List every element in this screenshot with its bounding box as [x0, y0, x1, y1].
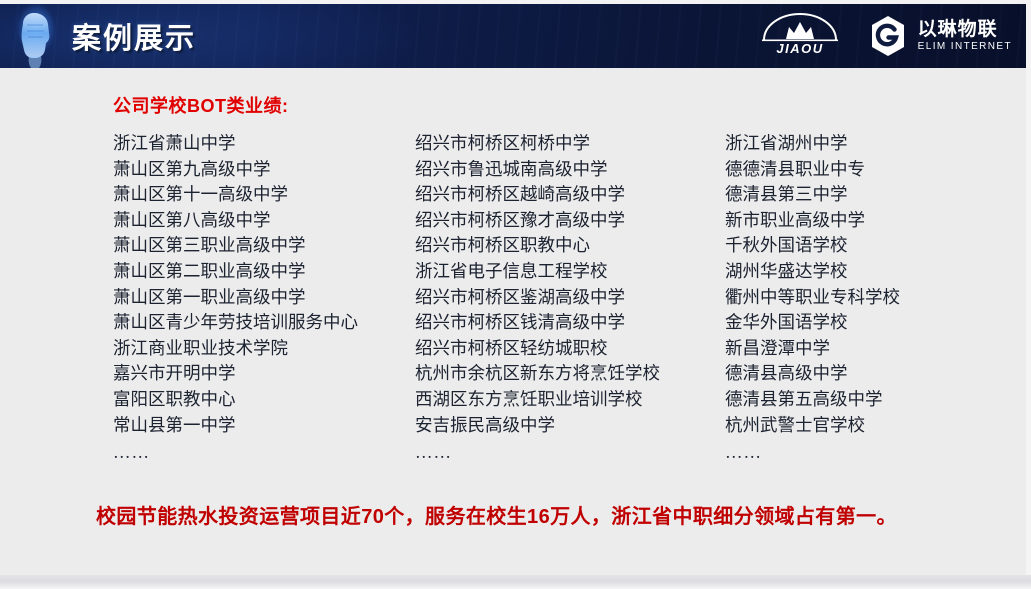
- list-item: 衢州中等职业专科学校: [725, 285, 993, 311]
- elim-wordmark: 以琳物联 ELIM INTERNET: [918, 19, 1012, 53]
- list-item: 富阳区职教中心: [113, 387, 415, 413]
- glowing-fist-icon: [0, 4, 72, 68]
- list-item: 萧山区第三职业高级中学: [113, 233, 415, 259]
- list-item: 浙江商业职业技术学院: [113, 336, 415, 362]
- list-item: 绍兴市柯桥区职教中心: [415, 233, 725, 259]
- elim-g-hexagon-icon: [867, 15, 909, 57]
- slide-right-edge: [1026, 0, 1031, 589]
- list-item: 安吉振民高级中学: [415, 413, 725, 439]
- list-item: 绍兴市柯桥区越崎高级中学: [415, 182, 725, 208]
- school-list-columns: 浙江省萧山中学 萧山区第九高级中学 萧山区第十一高级中学 萧山区第八高级中学 萧…: [113, 131, 993, 466]
- list-item: 绍兴市鲁迅城南高级中学: [415, 157, 725, 183]
- list-item: 萧山区第八高级中学: [113, 208, 415, 234]
- school-column-3: 浙江省湖州中学 德德清县职业中专 德清县第三中学 新市职业高级中学 千秋外国语学…: [725, 131, 993, 466]
- list-item: 浙江省湖州中学: [725, 131, 993, 157]
- list-item: 绍兴市柯桥区柯桥中学: [415, 131, 725, 157]
- school-column-1: 浙江省萧山中学 萧山区第九高级中学 萧山区第十一高级中学 萧山区第八高级中学 萧…: [113, 131, 415, 466]
- jiaou-wordmark: JIAOU: [752, 41, 848, 56]
- list-item: 浙江省电子信息工程学校: [415, 259, 725, 285]
- list-item: 萧山区第九高级中学: [113, 157, 415, 183]
- list-ellipsis: ……: [725, 440, 993, 466]
- list-item: 西湖区东方烹饪职业培训学校: [415, 387, 725, 413]
- list-item: 德德清县职业中专: [725, 157, 993, 183]
- list-item: 湖州华盛达学校: [725, 259, 993, 285]
- list-item: 德清县第五高级中学: [725, 387, 993, 413]
- list-item: 萧山区第十一高级中学: [113, 182, 415, 208]
- list-item: 德清县第三中学: [725, 182, 993, 208]
- list-item: 常山县第一中学: [113, 413, 415, 439]
- page-title: 案例展示: [72, 15, 196, 57]
- list-ellipsis: ……: [113, 440, 415, 466]
- list-item: 金华外国语学校: [725, 310, 993, 336]
- list-item: 绍兴市柯桥区轻纺城职校: [415, 336, 725, 362]
- sunrise-crown-icon: [756, 13, 844, 43]
- list-item: 新市职业高级中学: [725, 208, 993, 234]
- list-item: 杭州武警士官学校: [725, 413, 993, 439]
- school-column-2: 绍兴市柯桥区柯桥中学 绍兴市鲁迅城南高级中学 绍兴市柯桥区越崎高级中学 绍兴市柯…: [415, 131, 725, 466]
- list-item: 嘉兴市开明中学: [113, 361, 415, 387]
- list-item: 浙江省萧山中学: [113, 131, 415, 157]
- list-item: 萧山区青少年劳技培训服务中心: [113, 310, 415, 336]
- fist-silhouette-icon: [14, 10, 56, 68]
- slide-canvas: 案例展示 JIAOU 以琳物联 ELIM INTERNET 公司学校BOT类业绩…: [0, 0, 1031, 589]
- elim-name-cn: 以琳物联: [918, 19, 1012, 40]
- list-item: 杭州市余杭区新东方将烹饪学校: [415, 361, 725, 387]
- list-item: 绍兴市柯桥区钱清高级中学: [415, 310, 725, 336]
- list-item: 萧山区第二职业高级中学: [113, 259, 415, 285]
- section-title: 公司学校BOT类业绩:: [113, 92, 289, 118]
- list-item: 萧山区第一职业高级中学: [113, 285, 415, 311]
- slide-bottom-shadow: [0, 575, 1031, 589]
- slide-header-band: 案例展示 JIAOU 以琳物联 ELIM INTERNET: [0, 4, 1026, 68]
- list-item: 德清县高级中学: [725, 361, 993, 387]
- elim-logo: 以琳物联 ELIM INTERNET: [867, 14, 1012, 58]
- list-ellipsis: ……: [415, 440, 725, 466]
- summary-footnote: 校园节能热水投资运营项目近70个，服务在校生16万人，浙江省中职细分领域占有第一…: [96, 500, 897, 529]
- list-item: 绍兴市柯桥区鉴湖高级中学: [415, 285, 725, 311]
- list-item: 绍兴市柯桥区豫才高级中学: [415, 208, 725, 234]
- elim-name-en: ELIM INTERNET: [918, 40, 1012, 53]
- list-item: 新昌澄潭中学: [725, 336, 993, 362]
- jiaou-logo: JIAOU: [752, 13, 848, 59]
- list-item: 千秋外国语学校: [725, 233, 993, 259]
